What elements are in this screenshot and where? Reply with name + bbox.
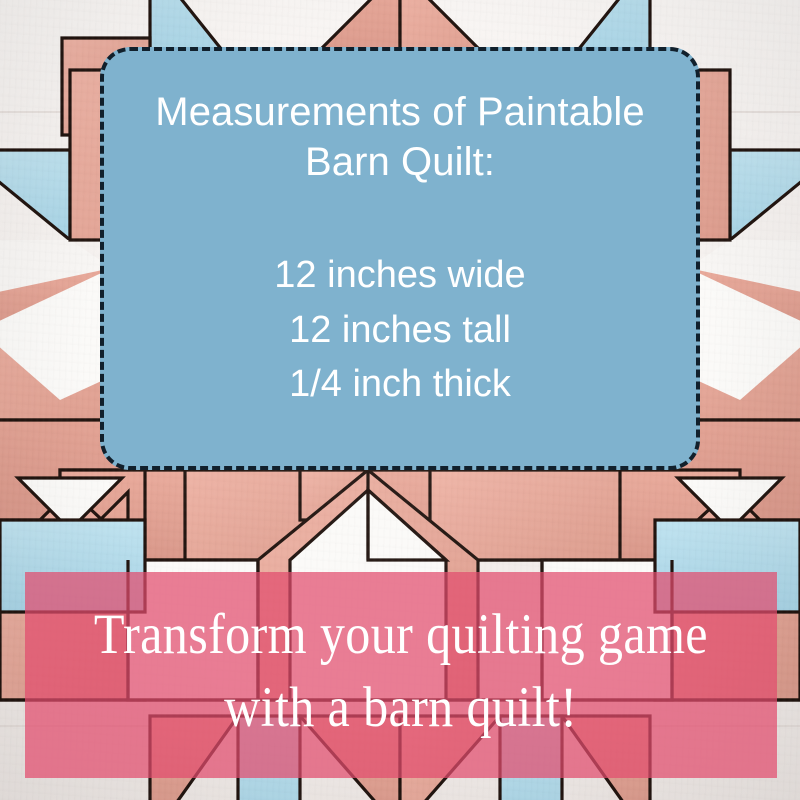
image-canvas: Measurements of Paintable Barn Quilt: 12… [0, 0, 800, 800]
measurement-item-width: 12 inches wide [132, 248, 668, 303]
measurement-item-thickness: 1/4 inch thick [132, 357, 668, 412]
callout-heading-line-2: Barn Quilt: [132, 137, 668, 187]
callout-heading-line-1: Measurements of Paintable [132, 87, 668, 137]
callout-spacer [132, 188, 668, 248]
measurement-item-height: 12 inches tall [132, 303, 668, 358]
promo-line-2: with a barn quilt! [224, 672, 577, 745]
promo-banner: Transform your quilting game with a barn… [25, 572, 777, 778]
measurements-callout: Measurements of Paintable Barn Quilt: 12… [100, 47, 700, 470]
promo-line-1: Transform your quilting game [94, 599, 708, 672]
